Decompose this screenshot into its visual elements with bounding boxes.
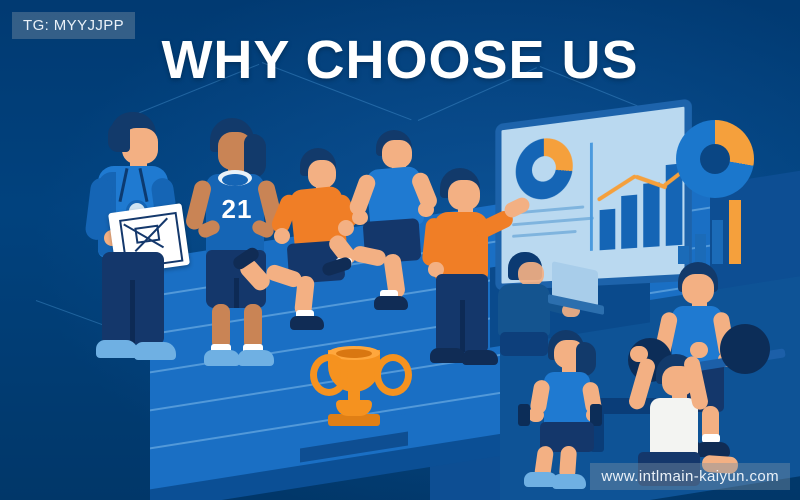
floating-donut-hole — [700, 144, 730, 174]
page-title: WHY CHOOSE US — [0, 33, 800, 87]
watermark-top-left: TG: MYYJJPP — [12, 12, 135, 39]
jersey-number: 21 — [216, 194, 258, 225]
watermark-bottom-right: www.intlmain-kaiyun.com — [590, 463, 790, 490]
coach-with-clipboard — [82, 112, 202, 370]
screen-bar — [643, 182, 659, 247]
side-bar — [695, 234, 706, 264]
trophy — [296, 344, 416, 464]
screen-text-line — [512, 230, 576, 238]
side-bar-highlight — [729, 200, 741, 264]
bench-dumbbell-woman — [530, 330, 640, 480]
dumbbell — [518, 404, 530, 426]
side-bar — [712, 220, 723, 264]
screen-bar — [600, 209, 616, 251]
screen-text-line — [512, 217, 594, 227]
presenter-orange — [420, 168, 508, 368]
poster-canvas: 21 — [0, 0, 800, 500]
screen-bar — [621, 195, 637, 249]
screen-chart-axis — [590, 143, 593, 251]
trophy-handle-right — [374, 354, 412, 396]
runner-orange — [270, 148, 360, 328]
trophy-handle-left — [310, 354, 348, 396]
floating-bar-chart — [678, 196, 764, 264]
trophy-rim-inner — [336, 349, 372, 358]
